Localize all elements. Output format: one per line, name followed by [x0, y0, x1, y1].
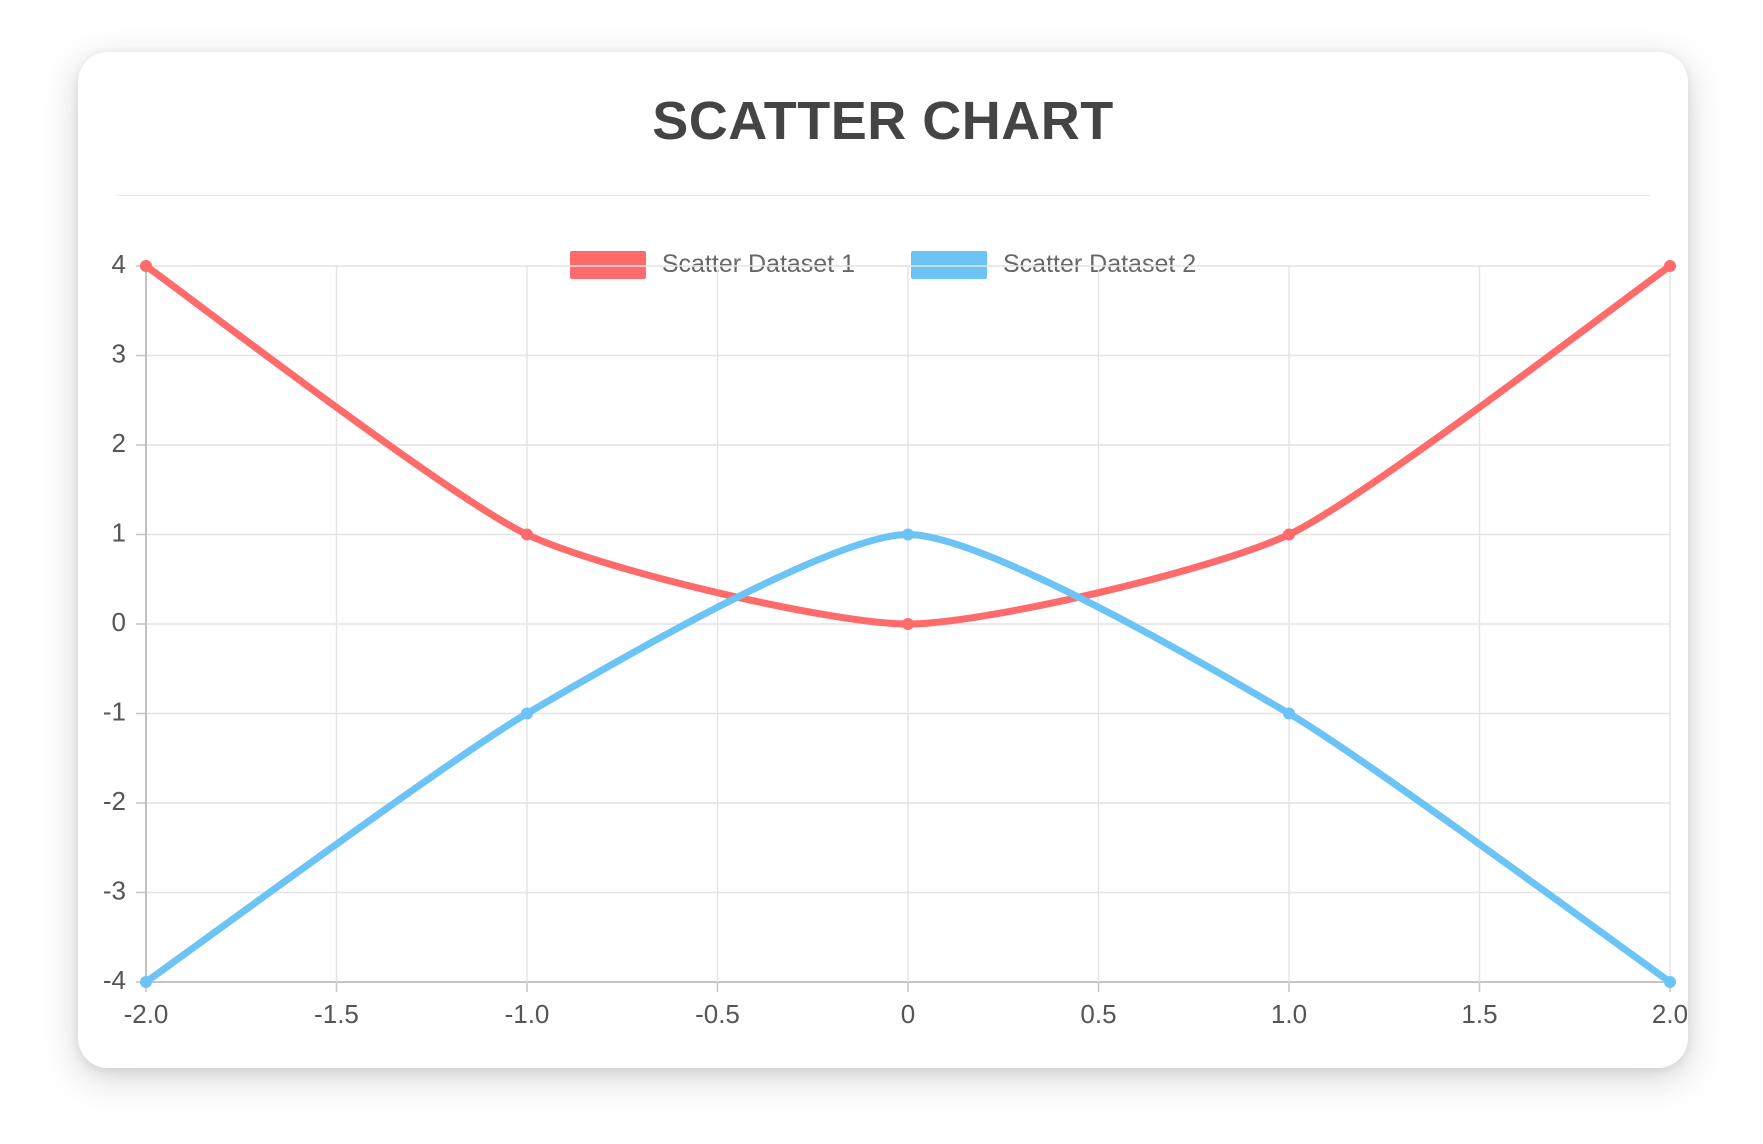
y-axis-tick-label: 1 [112, 517, 126, 547]
x-axis-tick-label: 1.5 [1461, 999, 1497, 1029]
x-axis-tick-label: -1.0 [505, 999, 550, 1029]
x-axis-tick-label: -0.5 [695, 999, 740, 1029]
x-axis-tick-label: 0 [901, 999, 915, 1029]
data-point-marker[interactable] [140, 976, 152, 988]
y-axis-tick-label: 2 [112, 428, 126, 458]
chart-canvas[interactable]: 43210-1-2-3-4-2.0-1.5-1.0-0.500.51.01.52… [78, 52, 1688, 1068]
data-point-marker[interactable] [1664, 976, 1676, 988]
y-axis-tick-label: 4 [112, 249, 126, 279]
x-axis-tick-label: -2.0 [124, 999, 169, 1029]
x-axis-tick-label: -1.5 [314, 999, 359, 1029]
data-point-marker[interactable] [902, 618, 914, 630]
data-point-marker[interactable] [1283, 529, 1295, 541]
data-point-marker[interactable] [1664, 260, 1676, 272]
plot-area[interactable]: 43210-1-2-3-4-2.0-1.5-1.0-0.500.51.01.52… [78, 52, 1688, 1068]
y-axis-tick-label: 0 [112, 607, 126, 637]
data-point-marker[interactable] [902, 529, 914, 541]
screenshot-root: SCATTER CHART Scatter Dataset 1Scatter D… [0, 0, 1763, 1144]
data-point-marker[interactable] [521, 529, 533, 541]
data-point-marker[interactable] [140, 260, 152, 272]
x-axis-tick-label: 1.0 [1271, 999, 1307, 1029]
x-axis-tick-label: 2.0 [1652, 999, 1688, 1029]
y-axis-tick-label: -3 [103, 875, 126, 905]
y-axis-tick-label: -4 [103, 965, 126, 995]
y-axis-tick-label: -1 [103, 696, 126, 726]
chart-card: SCATTER CHART Scatter Dataset 1Scatter D… [78, 52, 1688, 1068]
y-axis-tick-label: -2 [103, 786, 126, 816]
data-point-marker[interactable] [1283, 708, 1295, 720]
data-point-marker[interactable] [521, 708, 533, 720]
x-axis-tick-label: 0.5 [1080, 999, 1116, 1029]
y-axis-tick-label: 3 [112, 338, 126, 368]
